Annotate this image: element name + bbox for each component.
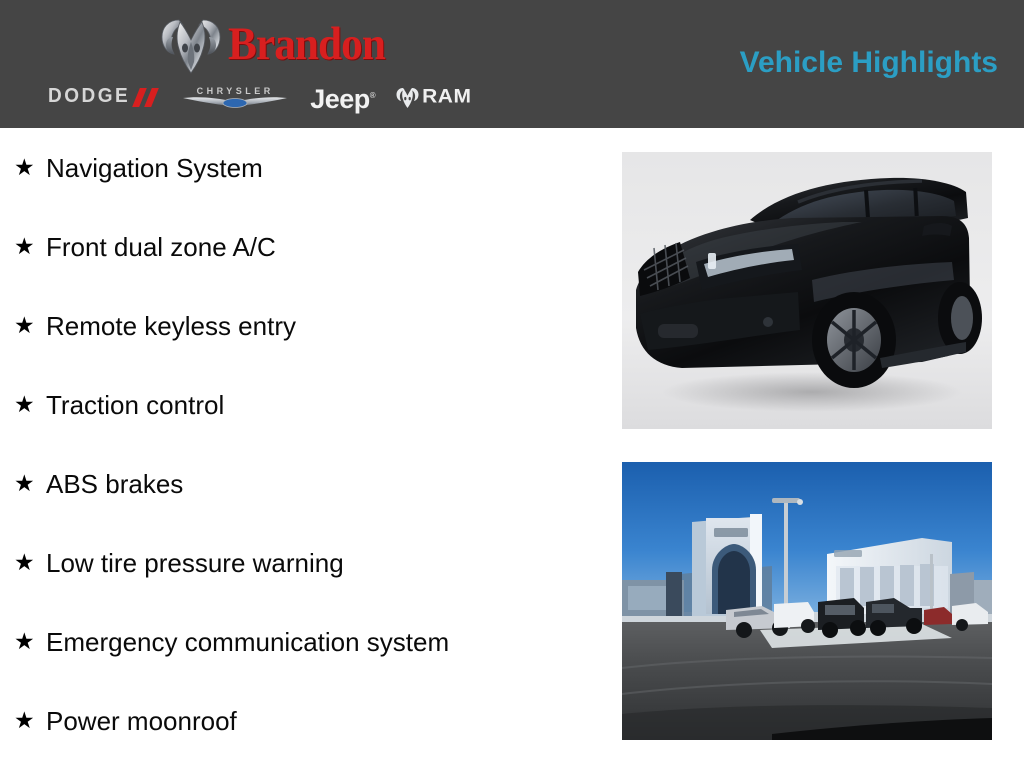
- star-bullet-icon: ★: [14, 393, 46, 416]
- vehicle-photo[interactable]: [622, 152, 992, 429]
- star-bullet-icon: ★: [14, 551, 46, 574]
- brand-logo-row: DODGE CHRYSLER: [48, 80, 538, 114]
- ram-head-icon: [158, 12, 224, 76]
- dealer-name: Brandon: [228, 21, 385, 68]
- highlight-label: Traction control: [46, 390, 224, 420]
- highlight-label: ABS brakes: [46, 469, 183, 499]
- highlight-label: Power moonroof: [46, 706, 237, 736]
- list-item: ★ Front dual zone A/C: [0, 207, 610, 286]
- star-bullet-icon: ★: [14, 709, 46, 732]
- dealer-logo-primary: Brandon: [158, 10, 399, 78]
- ram-wordmark: RAM: [422, 86, 471, 108]
- star-bullet-icon: ★: [14, 314, 46, 337]
- header-bar: Brandon DODGE CHRYSLER: [0, 0, 1024, 128]
- list-item: ★ Emergency communication system: [0, 602, 610, 681]
- star-bullet-icon: ★: [14, 156, 46, 179]
- star-bullet-icon: ★: [14, 472, 46, 495]
- dodge-wordmark: DODGE: [48, 85, 130, 108]
- dealer-logo[interactable]: Brandon DODGE CHRYSLER: [48, 8, 538, 120]
- star-bullet-icon: ★: [14, 235, 46, 258]
- list-item: ★ Low tire pressure warning: [0, 523, 610, 602]
- list-item: ★ Traction control: [0, 365, 610, 444]
- jeep-wordmark: Jeep®: [310, 82, 375, 113]
- highlight-label: Front dual zone A/C: [46, 232, 276, 262]
- chrysler-logo[interactable]: CHRYSLER: [180, 82, 290, 112]
- ram-logo[interactable]: RAM: [395, 82, 471, 112]
- ram-head-icon: [395, 85, 420, 109]
- vehicle-highlights-list: ★ Navigation System ★ Front dual zone A/…: [0, 128, 610, 760]
- star-bullet-icon: ★: [14, 630, 46, 653]
- page-title: Vehicle Highlights: [740, 46, 998, 80]
- dodge-logo[interactable]: DODGE: [48, 82, 160, 112]
- highlight-label: Navigation System: [46, 153, 263, 183]
- vehicle-photo-image: [622, 152, 992, 429]
- chrysler-wings-icon: [181, 95, 289, 108]
- list-item: ★ Remote keyless entry: [0, 286, 610, 365]
- highlight-label: Low tire pressure warning: [46, 548, 344, 578]
- list-item: ★ Navigation System: [0, 128, 610, 207]
- list-item: ★ ABS brakes: [0, 444, 610, 523]
- content-area: ★ Navigation System ★ Front dual zone A/…: [0, 128, 1024, 768]
- list-item: ★ Power moonroof: [0, 681, 610, 760]
- dealership-photo[interactable]: [622, 462, 992, 740]
- highlight-label: Remote keyless entry: [46, 311, 296, 341]
- jeep-logo[interactable]: Jeep®: [310, 82, 375, 112]
- dodge-slashes-icon: [134, 88, 160, 107]
- jeep-label: Jeep: [310, 84, 370, 114]
- highlight-label: Emergency communication system: [46, 627, 449, 657]
- dealership-photo-image: [622, 462, 992, 740]
- jeep-trademark: ®: [370, 91, 375, 100]
